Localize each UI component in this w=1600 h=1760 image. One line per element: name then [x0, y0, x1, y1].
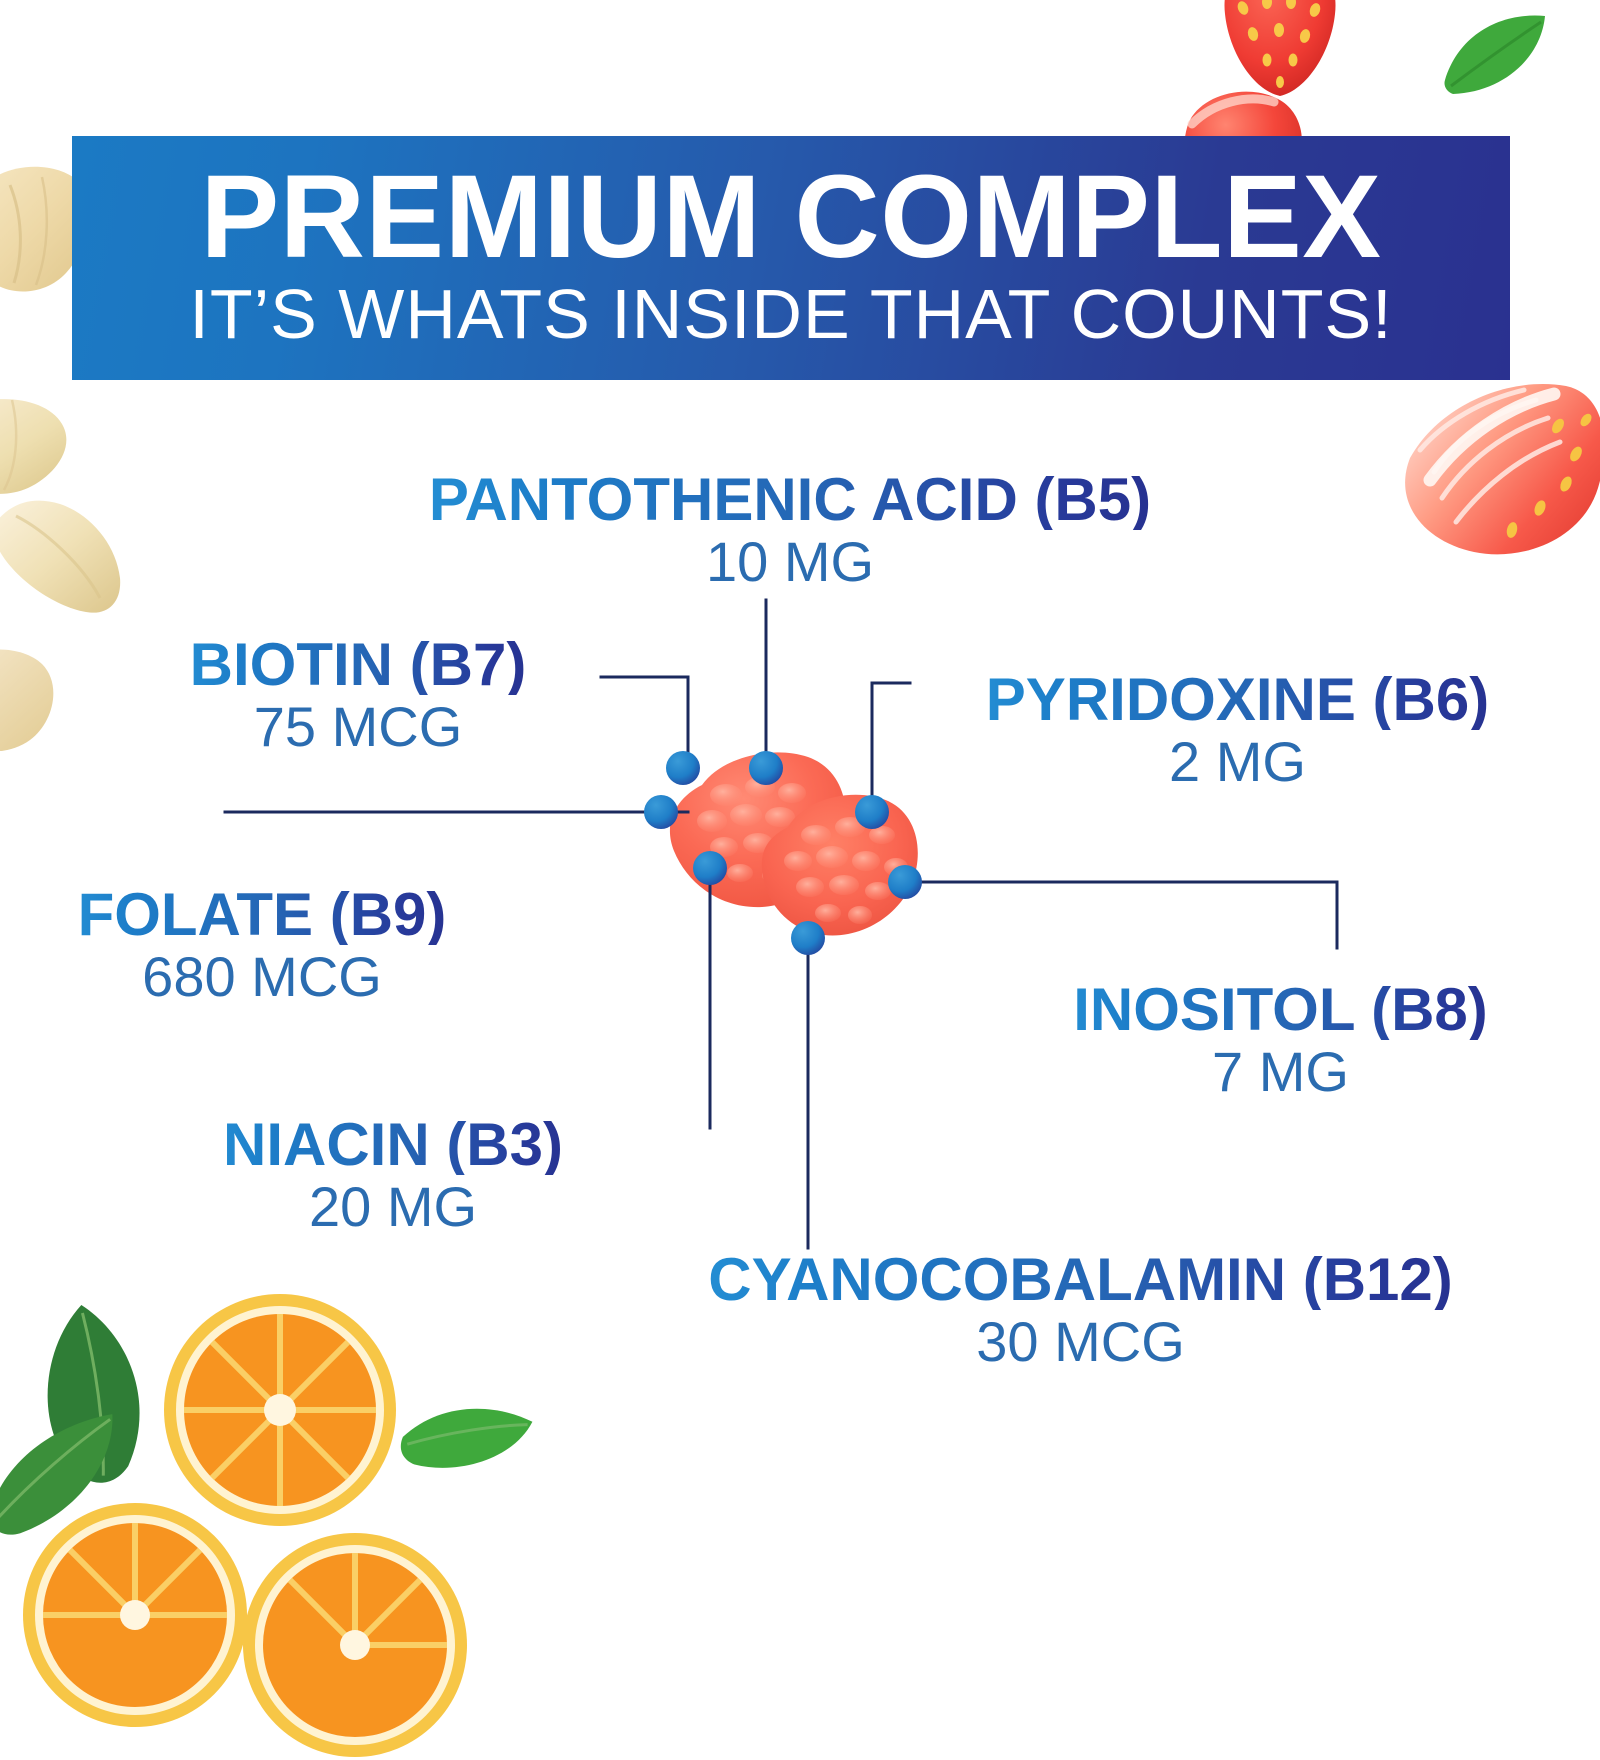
nutrient-b6-dose: 2 MG: [915, 734, 1560, 790]
page-title: PREMIUM COMPLEX: [201, 161, 1382, 274]
nutrient-b8-name: INOSITOL (B8): [1008, 980, 1553, 1040]
nutrient-b9: FOLATE (B9) 680 MCG: [22, 885, 502, 1005]
dot-b12: [791, 921, 825, 955]
nutrient-b3: NIACIN (B3) 20 MG: [168, 1115, 618, 1235]
nutrient-b5-name: PANTOTHENIC ACID (B5): [335, 470, 1245, 530]
nutrient-b9-dose: 680 MCG: [22, 949, 502, 1005]
nutrient-b7-name: BIOTIN (B7): [138, 635, 578, 695]
page-subtitle: IT’S WHATS INSIDE THAT COUNTS!: [189, 279, 1392, 349]
nutrient-b7: BIOTIN (B7) 75 MCG: [138, 635, 578, 755]
dot-b7: [666, 751, 700, 785]
infographic-canvas: PREMIUM COMPLEX IT’S WHATS INSIDE THAT C…: [0, 0, 1600, 1600]
nutrient-b12-name: CYANOCOBALAMIN (B12): [608, 1250, 1553, 1310]
nutrient-b8: INOSITOL (B8) 7 MG: [1008, 980, 1553, 1100]
dot-b5: [749, 751, 783, 785]
dot-b3: [693, 851, 727, 885]
dot-b6: [855, 795, 889, 829]
nutrient-b3-dose: 20 MG: [168, 1179, 618, 1235]
dot-b8: [888, 865, 922, 899]
nutrient-b7-dose: 75 MCG: [138, 699, 578, 755]
nutrient-b6: PYRIDOXINE (B6) 2 MG: [915, 670, 1560, 790]
connector-dots: [644, 751, 922, 955]
nutrient-b5: PANTOTHENIC ACID (B5) 10 MG: [335, 470, 1245, 590]
nutrient-b3-name: NIACIN (B3): [168, 1115, 618, 1175]
nutrient-b8-dose: 7 MG: [1008, 1044, 1553, 1100]
header-banner: PREMIUM COMPLEX IT’S WHATS INSIDE THAT C…: [72, 136, 1510, 380]
connector-b6: [872, 683, 910, 812]
nutrient-b9-name: FOLATE (B9): [22, 885, 502, 945]
nutrient-b5-dose: 10 MG: [335, 534, 1245, 590]
connector-b8: [905, 882, 1337, 948]
nutrient-b12: CYANOCOBALAMIN (B12) 30 MCG: [608, 1250, 1553, 1370]
nutrient-b6-name: PYRIDOXINE (B6): [915, 670, 1560, 730]
nutrient-b12-dose: 30 MCG: [608, 1314, 1553, 1370]
dot-b9: [644, 795, 678, 829]
